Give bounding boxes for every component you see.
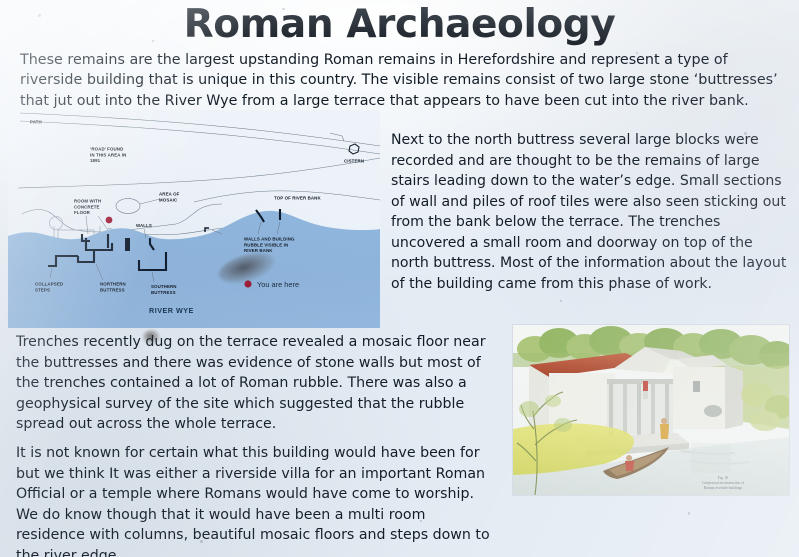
- svg-text:IN THIS AREA IN: IN THIS AREA IN: [90, 152, 126, 157]
- svg-text:STEPS: STEPS: [35, 287, 50, 292]
- information-board: Roman Archaeology These remains are the …: [0, 0, 799, 557]
- diagram-label-cistern: CISTERN: [344, 159, 364, 164]
- site-plan-diagram: PATH ‘ROAD’ FOUND IN THIS AREA IN 1891 C…: [8, 110, 380, 328]
- lower-paragraph-2: It is not known for certain what this bu…: [16, 443, 494, 557]
- right-column-paragraph: Next to the north buttress several large…: [391, 130, 787, 294]
- lower-paragraph-1: Trenches recently dug on the terrace rev…: [16, 332, 494, 435]
- tower-wall: [673, 367, 725, 429]
- svg-text:BUTTRESS: BUTTRESS: [100, 287, 125, 292]
- svg-text:NORTHERN: NORTHERN: [100, 282, 126, 287]
- svg-text:You are here: You are here: [257, 280, 299, 289]
- tower-window: [693, 381, 700, 392]
- svg-text:CISTERN: CISTERN: [344, 159, 364, 164]
- illustration-caption: Fig. 18 Conjectural reconstruction of Ro…: [663, 476, 783, 491]
- dust-speck: [560, 300, 562, 302]
- svg-text:WALLS AND BUILDING: WALLS AND BUILDING: [244, 237, 295, 242]
- diagram-label-area-of-mosaic: AREA OF MOSAIC: [159, 192, 180, 203]
- diagram-label-river-wye: RIVER WYE: [149, 306, 194, 315]
- caption-line-3: Roman riverside buildings: [663, 486, 783, 491]
- you-are-here-marker-plan: [106, 217, 113, 224]
- diagram-label-path: PATH: [30, 120, 42, 125]
- reconstruction-illustration: Fig. 18 Conjectural reconstruction of Ro…: [513, 325, 789, 495]
- diagram-label-southern-buttress: SOUTHERN BUTTRESS: [151, 284, 177, 295]
- svg-text:SOUTHERN: SOUTHERN: [151, 284, 177, 289]
- svg-text:MOSAIC: MOSAIC: [159, 197, 178, 202]
- svg-text:ROOM WITH: ROOM WITH: [74, 199, 101, 204]
- svg-text:RUBBLE VISIBLE IN: RUBBLE VISIBLE IN: [244, 242, 288, 247]
- svg-text:1891: 1891: [90, 158, 101, 163]
- page-title: Roman Archaeology: [0, 2, 799, 47]
- svg-text:PATH: PATH: [30, 120, 42, 125]
- svg-text:TOP OF RIVER BANK: TOP OF RIVER BANK: [274, 196, 321, 201]
- svg-text:WALLS: WALLS: [136, 223, 152, 228]
- svg-text:FLOOR: FLOOR: [74, 210, 91, 215]
- lower-text-block: Trenches recently dug on the terrace rev…: [16, 332, 494, 557]
- tower-side-wall: [725, 365, 743, 429]
- you-are-here-marker: [244, 280, 251, 287]
- svg-text:AREA OF: AREA OF: [159, 192, 180, 197]
- figure-red: [643, 381, 648, 399]
- dust-speck: [688, 512, 690, 515]
- svg-text:BUTTRESS: BUTTRESS: [151, 290, 176, 295]
- svg-text:RIVER WYE: RIVER WYE: [149, 306, 194, 315]
- diagram-label-top-of-river-bank: TOP OF RIVER BANK: [274, 196, 321, 201]
- portico-architrave: [607, 379, 673, 384]
- arch-reflection: [704, 405, 722, 417]
- svg-text:CONCRETE: CONCRETE: [74, 204, 100, 209]
- svg-text:RIVER BANK: RIVER BANK: [244, 248, 273, 253]
- svg-text:COLLAPSED: COLLAPSED: [35, 282, 63, 287]
- diagram-label-you-are-here: You are here: [257, 280, 299, 289]
- intro-paragraph: These remains are the largest upstanding…: [20, 50, 782, 111]
- svg-text:‘ROAD’ FOUND: ‘ROAD’ FOUND: [90, 147, 123, 152]
- diagram-label-walls: WALLS: [136, 223, 152, 228]
- diagram-label-northern-buttress: NORTHERN BUTTRESS: [100, 282, 126, 293]
